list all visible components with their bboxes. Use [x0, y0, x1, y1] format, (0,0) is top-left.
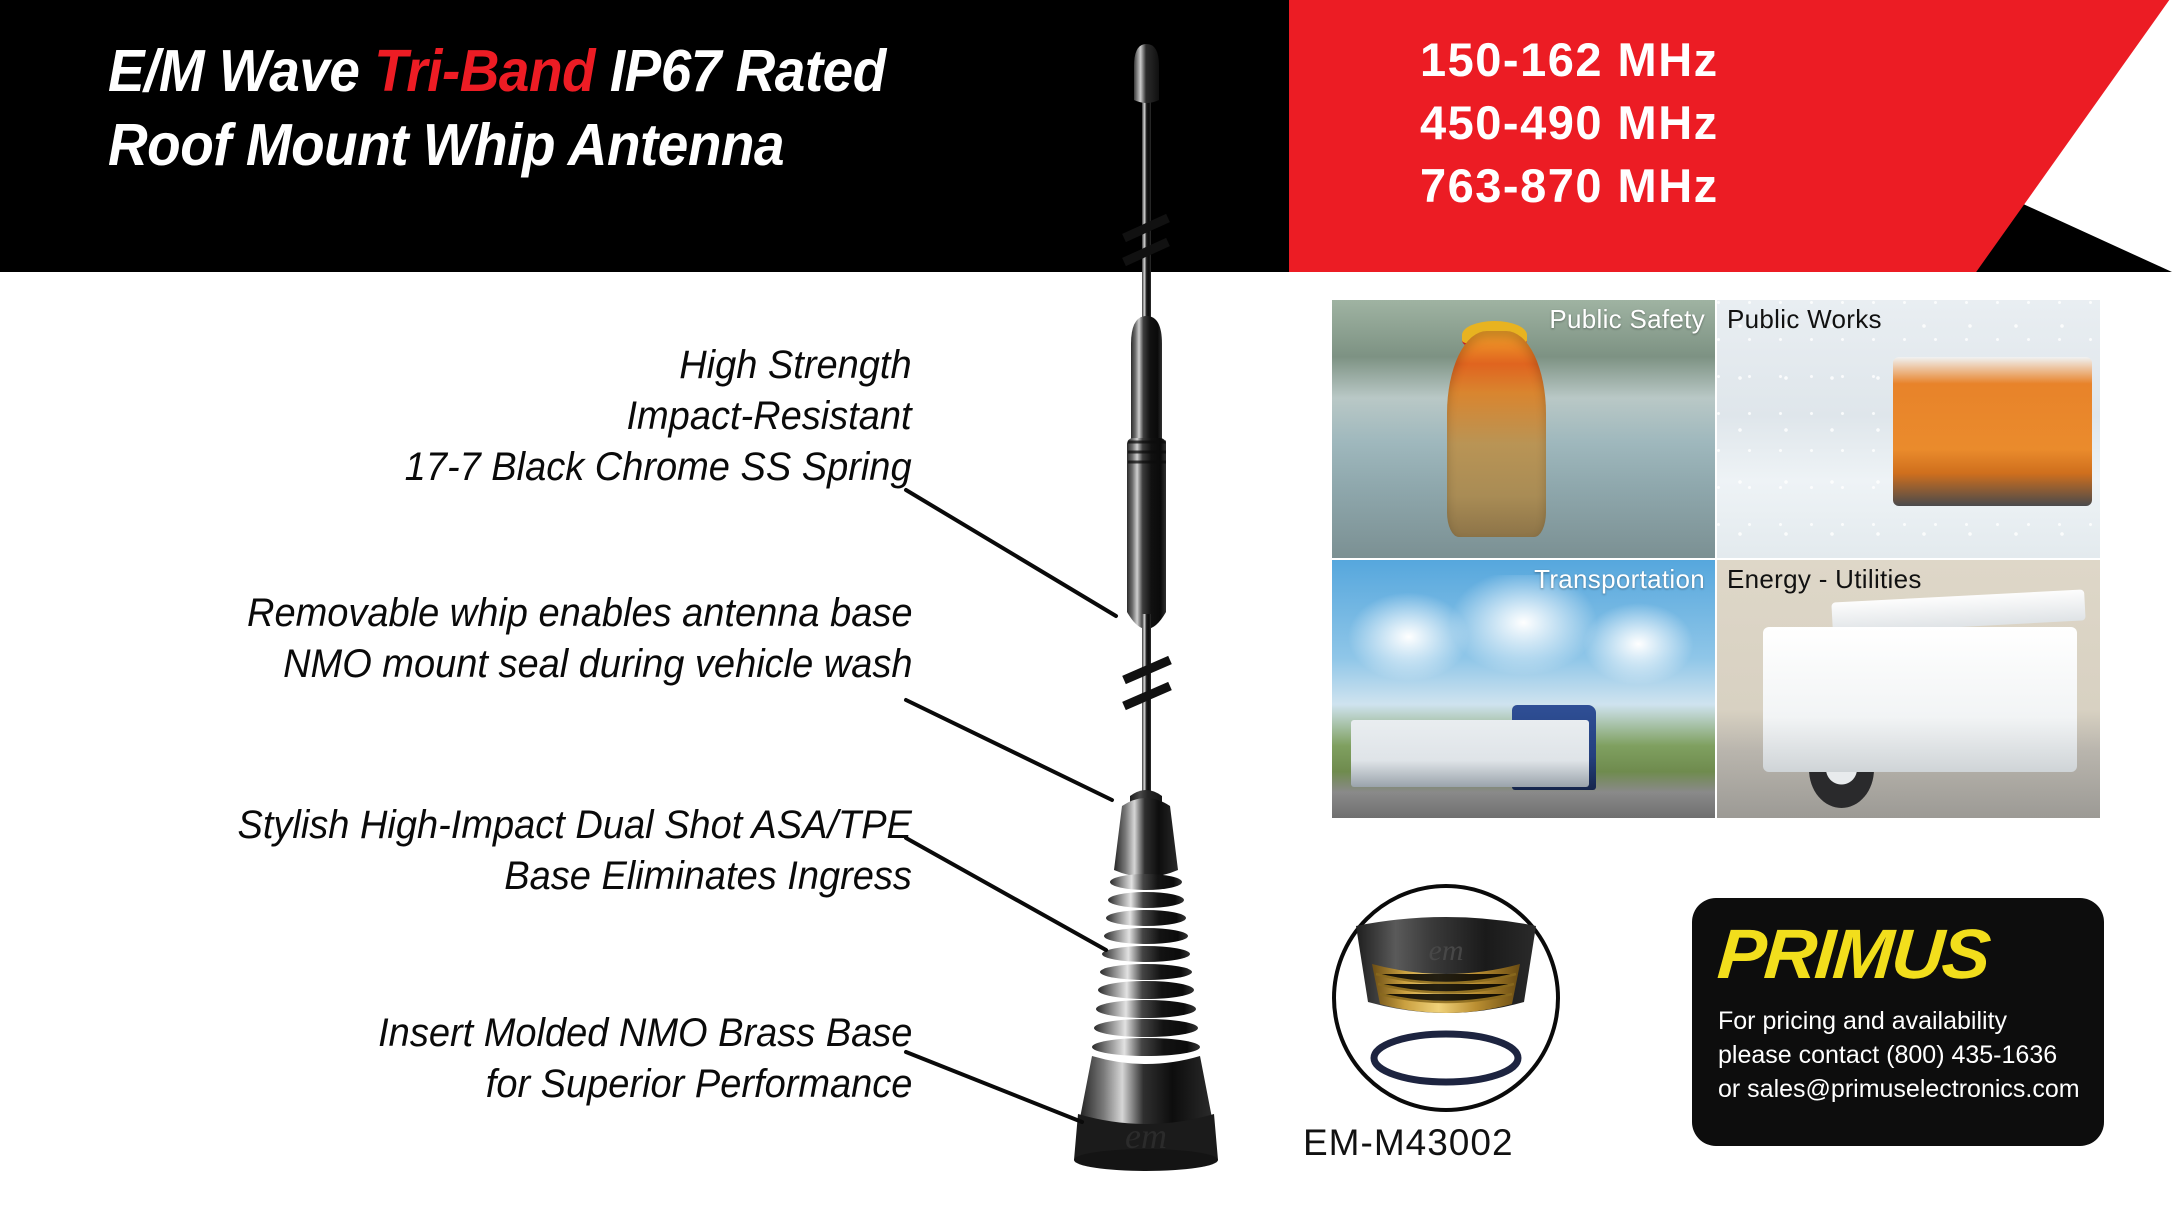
callout-3-line-2: Base Eliminates Ingress	[238, 851, 912, 902]
callout-4-line-1: Insert Molded NMO Brass Base	[378, 1008, 912, 1059]
callout-removable-whip: Removable whip enables antenna base NMO …	[247, 588, 912, 690]
callout-high-strength-spring: High Strength Impact-Resistant 17-7 Blac…	[405, 340, 912, 493]
callout-2-line-2: NMO mount seal during vehicle wash	[247, 639, 912, 690]
product-spec-sheet: E/M Wave Tri-Band IP67 Rated Roof Mount …	[0, 0, 2172, 1218]
callout-4-line-2: for Superior Performance	[378, 1059, 912, 1110]
callout-nmo-brass-base: Insert Molded NMO Brass Base for Superio…	[378, 1008, 912, 1110]
callout-1-line-1: High Strength	[405, 340, 912, 391]
callout-3-line-1: Stylish High-Impact Dual Shot ASA/TPE	[238, 800, 912, 851]
callout-1-line-3: 17-7 Black Chrome SS Spring	[405, 442, 912, 493]
callout-dual-shot-base: Stylish High-Impact Dual Shot ASA/TPE Ba…	[238, 800, 912, 902]
leader-line-4	[906, 1052, 1082, 1122]
callout-2-line-1: Removable whip enables antenna base	[247, 588, 912, 639]
leader-line-1	[906, 490, 1116, 616]
leader-line-2	[906, 700, 1112, 800]
callout-1-line-2: Impact-Resistant	[405, 391, 912, 442]
leader-line-3	[906, 838, 1106, 950]
